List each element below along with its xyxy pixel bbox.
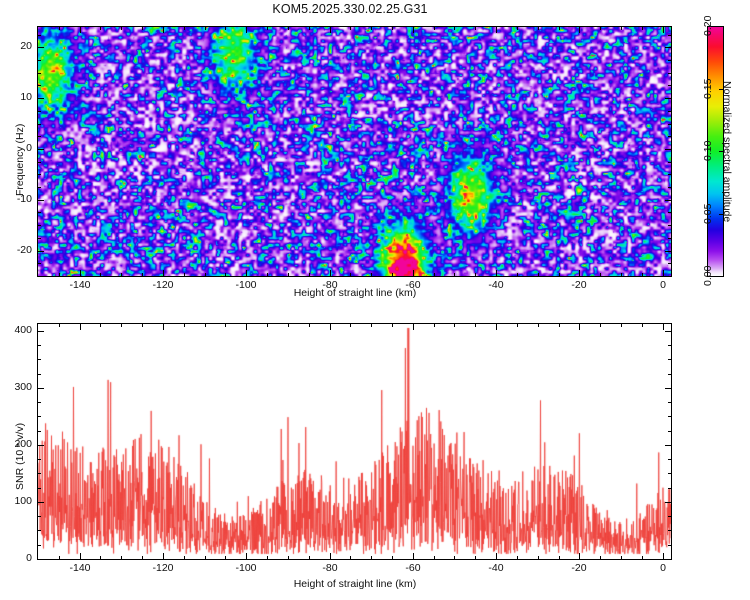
tick-mark — [517, 324, 518, 327]
tick-mark — [38, 276, 41, 277]
tick-mark — [475, 324, 476, 327]
tick-mark — [434, 273, 435, 276]
tick-mark — [142, 556, 143, 559]
figure-title: KOM5.2025.330.02.25.G31 — [0, 2, 700, 16]
tick-label: 0 — [26, 142, 32, 154]
tick-mark — [38, 251, 44, 252]
tick-mark — [38, 473, 41, 474]
tick-mark — [538, 324, 539, 327]
tick-mark — [413, 553, 414, 559]
snr-y-axis-label: SNR (10 * v/v) — [14, 423, 26, 490]
tick-mark — [579, 553, 580, 559]
colorbar-tick-label: 0.05 — [702, 204, 714, 224]
tick-mark — [517, 273, 518, 276]
tick-mark — [621, 273, 622, 276]
tick-mark — [38, 331, 44, 332]
tick-mark — [350, 556, 351, 559]
colorbar-tick-label: 0.20 — [702, 16, 714, 36]
tick-mark — [668, 459, 671, 460]
tick-mark — [330, 324, 331, 330]
tick-mark — [496, 553, 497, 559]
tick-mark — [267, 273, 268, 276]
tick-mark — [59, 27, 60, 30]
tick-mark — [559, 27, 560, 30]
tick-mark — [538, 273, 539, 276]
tick-mark — [600, 27, 601, 30]
tick-mark — [668, 488, 671, 489]
tick-mark — [665, 47, 671, 48]
tick-mark — [38, 488, 41, 489]
tick-mark — [668, 263, 671, 264]
tick-mark — [559, 556, 560, 559]
tick-mark — [121, 556, 122, 559]
tick-mark — [668, 136, 671, 137]
tick-mark — [600, 273, 601, 276]
tick-mark — [668, 276, 671, 277]
tick-label: -20 — [571, 279, 586, 291]
tick-label: -120 — [152, 279, 173, 291]
tick-mark — [142, 27, 143, 30]
tick-mark — [454, 556, 455, 559]
tick-mark — [668, 402, 671, 403]
tick-mark — [225, 556, 226, 559]
tick-label: 100 — [14, 495, 32, 507]
tick-mark — [621, 27, 622, 30]
tick-mark — [163, 270, 164, 276]
tick-label: 200 — [14, 438, 32, 450]
tick-label: -80 — [322, 279, 337, 291]
tick-mark — [475, 556, 476, 559]
tick-mark — [663, 27, 664, 33]
tick-mark — [668, 225, 671, 226]
tick-mark — [38, 238, 41, 239]
tick-mark — [205, 27, 206, 30]
tick-mark — [668, 359, 671, 360]
tick-label: -20 — [17, 244, 32, 256]
tick-mark — [163, 553, 164, 559]
tick-mark — [413, 324, 414, 330]
colorbar-tick-label: 0.15 — [702, 79, 714, 99]
tick-label: -60 — [405, 279, 420, 291]
tick-label: 0 — [660, 562, 666, 574]
tick-mark — [665, 331, 671, 332]
spectrogram-panel — [37, 26, 672, 277]
tick-mark — [665, 559, 671, 560]
tick-mark — [454, 27, 455, 30]
tick-mark — [668, 431, 671, 432]
tick-mark — [496, 27, 497, 33]
tick-label: -40 — [488, 562, 503, 574]
tick-mark — [121, 27, 122, 30]
tick-mark — [350, 27, 351, 30]
tick-mark — [100, 324, 101, 327]
tick-mark — [38, 374, 41, 375]
tick-mark — [309, 556, 310, 559]
tick-mark — [38, 502, 44, 503]
tick-label: -100 — [235, 279, 256, 291]
tick-label: -80 — [322, 562, 337, 574]
tick-mark — [38, 124, 41, 125]
tick-mark — [80, 553, 81, 559]
tick-mark — [121, 273, 122, 276]
tick-mark — [668, 174, 671, 175]
tick-label: -20 — [571, 562, 586, 574]
tick-mark — [184, 556, 185, 559]
tick-mark — [579, 27, 580, 33]
tick-mark — [392, 273, 393, 276]
tick-mark — [371, 27, 372, 30]
tick-label: 400 — [14, 324, 32, 336]
tick-mark — [121, 324, 122, 327]
tick-mark — [163, 324, 164, 330]
tick-label: -140 — [69, 279, 90, 291]
tick-mark — [665, 445, 671, 446]
tick-mark — [38, 516, 41, 517]
tick-mark — [38, 35, 41, 36]
tick-mark — [668, 374, 671, 375]
tick-mark — [184, 27, 185, 30]
tick-mark — [38, 263, 41, 264]
tick-mark — [205, 556, 206, 559]
tick-mark — [38, 530, 41, 531]
tick-mark — [665, 251, 671, 252]
tick-mark — [668, 35, 671, 36]
tick-mark — [80, 324, 81, 330]
tick-mark — [663, 553, 664, 559]
tick-mark — [38, 174, 41, 175]
tick-mark — [225, 324, 226, 327]
tick-mark — [100, 556, 101, 559]
tick-mark — [665, 149, 671, 150]
tick-label: 0 — [26, 552, 32, 564]
tick-mark — [668, 111, 671, 112]
tick-mark — [38, 416, 41, 417]
tick-mark — [665, 200, 671, 201]
snr-x-axis-label: Height of straight line (km) — [255, 578, 455, 590]
tick-mark — [496, 270, 497, 276]
tick-mark — [142, 324, 143, 327]
tick-mark — [579, 324, 580, 330]
tick-mark — [38, 225, 41, 226]
tick-mark — [246, 27, 247, 33]
tick-mark — [538, 27, 539, 30]
tick-mark — [59, 273, 60, 276]
tick-mark — [184, 324, 185, 327]
spectrogram-x-axis-label: Height of straight line (km) — [255, 287, 455, 299]
tick-mark — [267, 556, 268, 559]
tick-mark — [38, 445, 44, 446]
tick-mark — [80, 27, 81, 33]
tick-mark — [38, 359, 41, 360]
tick-mark — [38, 212, 41, 213]
tick-mark — [163, 27, 164, 33]
tick-mark — [288, 27, 289, 30]
tick-mark — [579, 270, 580, 276]
tick-mark — [38, 545, 41, 546]
tick-mark — [392, 27, 393, 30]
tick-mark — [38, 431, 41, 432]
tick-mark — [663, 324, 664, 330]
tick-mark — [665, 388, 671, 389]
tick-mark — [413, 27, 414, 33]
tick-mark — [559, 324, 560, 327]
tick-mark — [38, 85, 41, 86]
tick-mark — [59, 324, 60, 327]
tick-mark — [668, 85, 671, 86]
tick-mark — [642, 27, 643, 30]
colorbar-label: Normalized spectral amplitude — [721, 81, 733, 222]
tick-mark — [38, 187, 41, 188]
tick-mark — [38, 73, 41, 74]
tick-label: -60 — [405, 562, 420, 574]
tick-mark — [371, 324, 372, 327]
tick-mark — [668, 162, 671, 163]
tick-label: -100 — [235, 562, 256, 574]
tick-mark — [600, 324, 601, 327]
tick-mark — [621, 556, 622, 559]
tick-mark — [668, 124, 671, 125]
tick-mark — [668, 530, 671, 531]
colorbar-tick-label: 0.00 — [702, 266, 714, 286]
tick-label: 0 — [660, 279, 666, 291]
tick-mark — [621, 324, 622, 327]
tick-mark — [288, 556, 289, 559]
tick-mark — [559, 273, 560, 276]
tick-mark — [668, 345, 671, 346]
tick-mark — [38, 459, 41, 460]
tick-mark — [538, 556, 539, 559]
tick-mark — [434, 556, 435, 559]
tick-mark — [38, 402, 41, 403]
snr-panel — [37, 323, 672, 560]
tick-mark — [392, 556, 393, 559]
tick-mark — [600, 556, 601, 559]
tick-mark — [38, 388, 44, 389]
tick-label: -10 — [17, 193, 32, 205]
colorbar-tick-label: 0.10 — [702, 141, 714, 161]
tick-label: -40 — [488, 279, 503, 291]
tick-mark — [38, 98, 44, 99]
tick-mark — [288, 273, 289, 276]
tick-mark — [475, 27, 476, 30]
tick-mark — [246, 553, 247, 559]
tick-label: 10 — [20, 91, 32, 103]
spectrogram-y-axis-label: Frequency (Hz) — [14, 124, 26, 196]
tick-mark — [309, 324, 310, 327]
tick-mark — [100, 27, 101, 30]
tick-mark — [719, 26, 724, 27]
tick-mark — [309, 273, 310, 276]
tick-mark — [517, 27, 518, 30]
tick-mark — [38, 200, 44, 201]
figure-root: KOM5.2025.330.02.25.G31 Frequency (Hz) H… — [0, 0, 750, 600]
tick-mark — [668, 516, 671, 517]
tick-mark — [288, 324, 289, 327]
tick-mark — [665, 98, 671, 99]
tick-mark — [38, 136, 41, 137]
tick-mark — [225, 27, 226, 30]
tick-mark — [38, 345, 41, 346]
tick-mark — [642, 273, 643, 276]
tick-mark — [330, 553, 331, 559]
tick-mark — [38, 47, 44, 48]
tick-label: -120 — [152, 562, 173, 574]
tick-mark — [668, 187, 671, 188]
tick-mark — [205, 273, 206, 276]
tick-mark — [642, 324, 643, 327]
tick-mark — [267, 27, 268, 30]
tick-mark — [38, 559, 44, 560]
tick-mark — [38, 60, 41, 61]
tick-mark — [350, 324, 351, 327]
tick-mark — [454, 324, 455, 327]
tick-mark — [205, 324, 206, 327]
tick-mark — [475, 273, 476, 276]
tick-mark — [668, 545, 671, 546]
tick-mark — [668, 473, 671, 474]
tick-mark — [668, 212, 671, 213]
tick-mark — [454, 273, 455, 276]
tick-mark — [517, 556, 518, 559]
tick-mark — [38, 162, 41, 163]
tick-mark — [38, 149, 44, 150]
tick-mark — [434, 27, 435, 30]
tick-mark — [100, 273, 101, 276]
tick-mark — [184, 273, 185, 276]
tick-mark — [642, 556, 643, 559]
tick-mark — [719, 276, 724, 277]
tick-mark — [668, 60, 671, 61]
tick-mark — [246, 324, 247, 330]
tick-mark — [434, 324, 435, 327]
tick-mark — [668, 73, 671, 74]
tick-mark — [225, 273, 226, 276]
tick-mark — [665, 502, 671, 503]
tick-mark — [330, 27, 331, 33]
tick-mark — [668, 238, 671, 239]
tick-mark — [267, 324, 268, 327]
tick-mark — [330, 270, 331, 276]
tick-mark — [392, 324, 393, 327]
tick-mark — [371, 273, 372, 276]
tick-mark — [38, 111, 41, 112]
tick-mark — [663, 270, 664, 276]
tick-mark — [350, 273, 351, 276]
tick-mark — [59, 556, 60, 559]
tick-label: 20 — [20, 40, 32, 52]
tick-mark — [142, 273, 143, 276]
snr-trace — [38, 324, 671, 559]
tick-mark — [371, 556, 372, 559]
spectrogram-image — [38, 27, 671, 276]
tick-mark — [496, 324, 497, 330]
tick-label: 300 — [14, 381, 32, 393]
tick-mark — [668, 416, 671, 417]
tick-mark — [246, 270, 247, 276]
tick-mark — [80, 270, 81, 276]
tick-mark — [309, 27, 310, 30]
tick-mark — [413, 270, 414, 276]
tick-label: -140 — [69, 562, 90, 574]
